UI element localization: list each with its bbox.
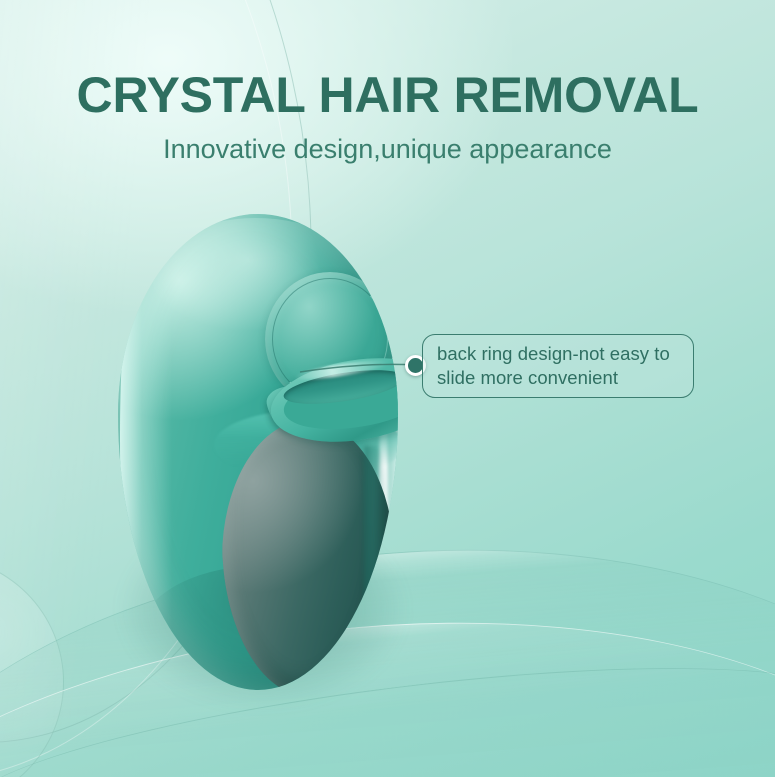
callout-box: back ring design-not easy to slide more … (422, 334, 694, 398)
page-title: CRYSTAL HAIR REMOVAL (0, 66, 775, 124)
product-device (118, 214, 408, 694)
crystal-pad-edge-shadow (364, 446, 388, 678)
product-banner: CRYSTAL HAIR REMOVAL Innovative design,u… (0, 0, 775, 777)
callout-text: back ring design-not easy to slide more … (437, 342, 679, 390)
device-body (118, 214, 398, 690)
page-subtitle: Innovative design,unique appearance (0, 134, 775, 165)
